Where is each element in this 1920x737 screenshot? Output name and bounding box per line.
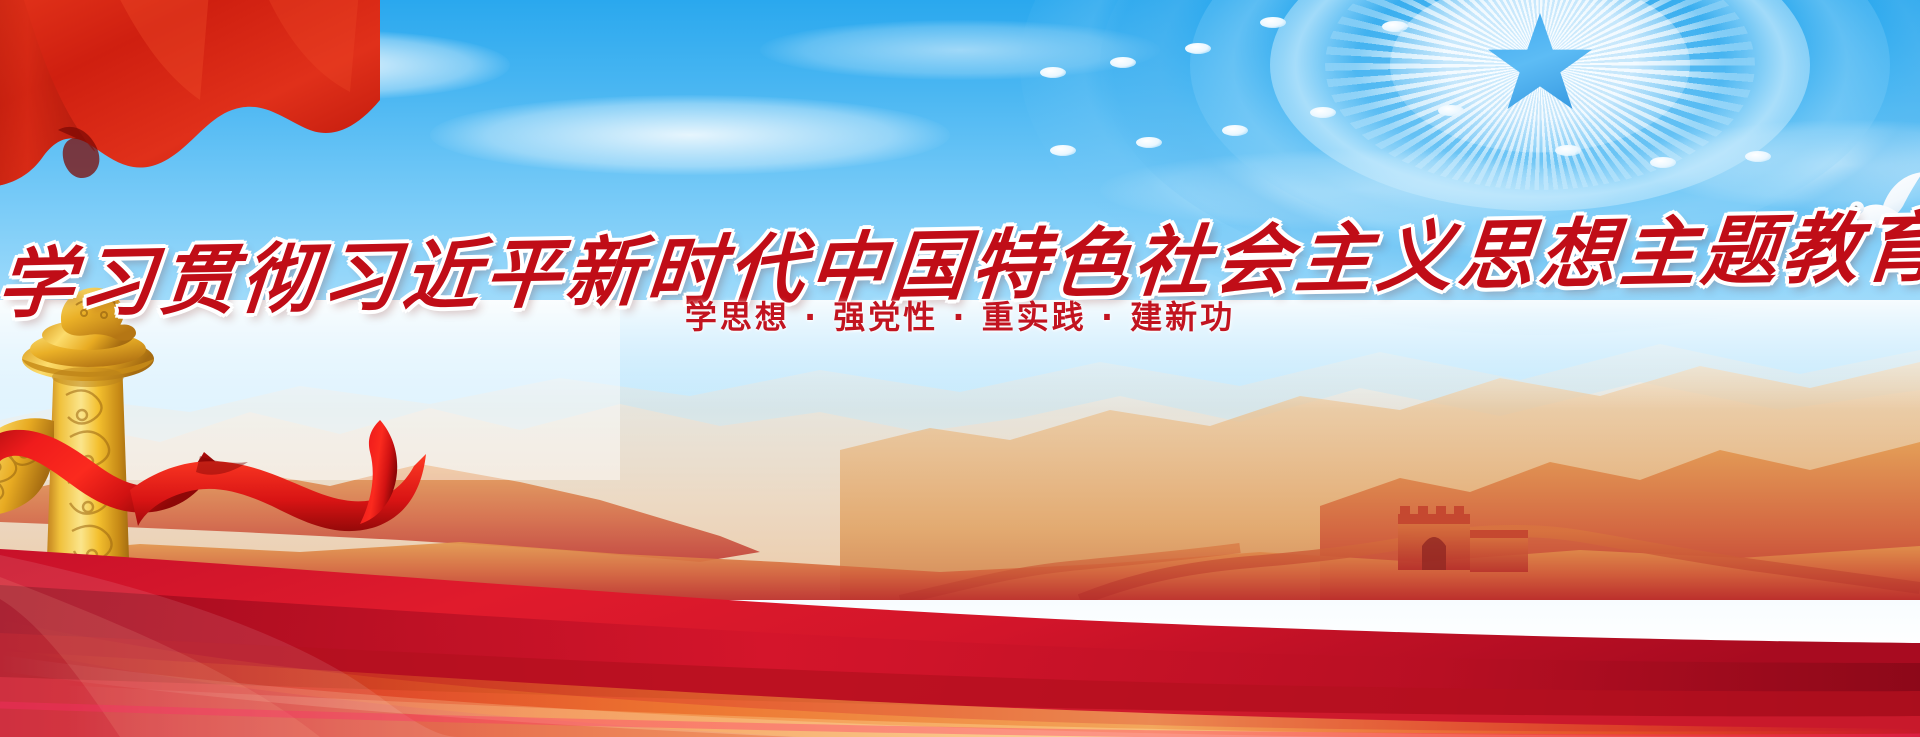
red-silk-foreground <box>0 437 1920 737</box>
dove-head <box>1850 201 1864 214</box>
red-flag <box>0 0 380 210</box>
dove-beak <box>1845 208 1849 213</box>
peace-dove <box>1845 172 1920 250</box>
dove-eye <box>1855 206 1858 209</box>
huabiao-beast <box>61 288 136 341</box>
party-education-banner: 学习贯彻习近平新时代中国特色社会主义思想主题教育 学思想 · 强党性 · 重实践… <box>0 0 1920 737</box>
